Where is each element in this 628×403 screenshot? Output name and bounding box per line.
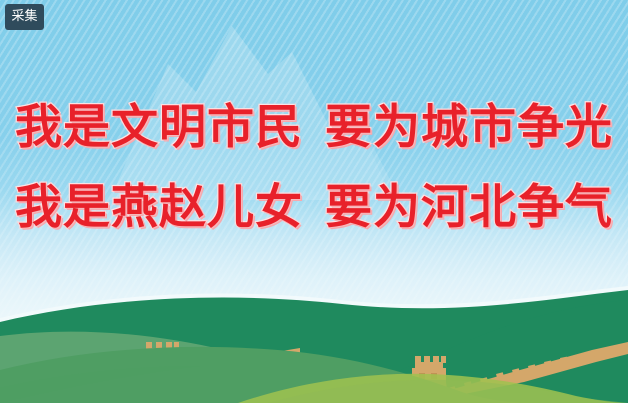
headline-line2-left: 我是燕赵儿女 bbox=[15, 180, 303, 235]
headline-line1-right: 要为城市争光 bbox=[325, 100, 613, 155]
headline-line-1: 我是文明市民要为城市争光 bbox=[0, 104, 628, 151]
headline-line1-left: 我是文明市民 bbox=[15, 100, 303, 155]
poster-canvas: 我是文明市民要为城市争光 我是燕赵儿女要为河北争气 采集 bbox=[0, 0, 628, 403]
headline-line2-right: 要为河北争气 bbox=[325, 180, 613, 235]
headline-line-2: 我是燕赵儿女要为河北争气 bbox=[0, 184, 628, 231]
capture-button[interactable]: 采集 bbox=[5, 4, 44, 30]
